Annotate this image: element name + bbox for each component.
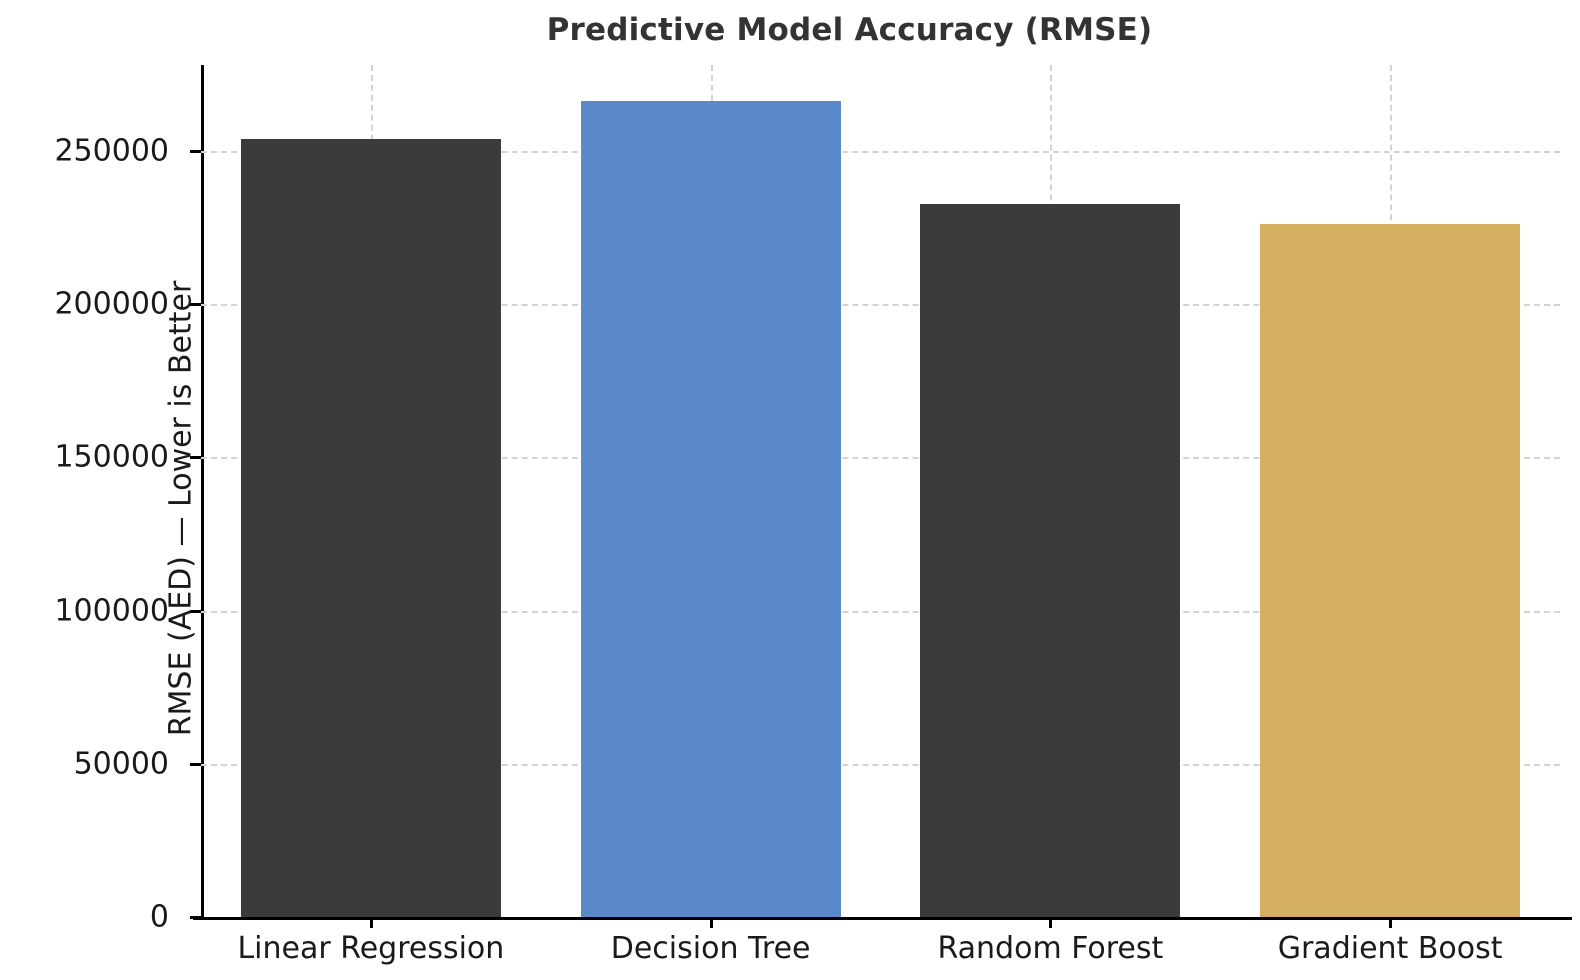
y-tick-label: 200000	[54, 287, 169, 322]
x-tick-label-decision-tree: Decision Tree	[611, 931, 811, 966]
x-tick-mark	[1389, 917, 1392, 928]
y-tick-label: 150000	[54, 440, 169, 475]
chart-figure: Predictive Model Accuracy (RMSE) 0500001…	[0, 0, 1580, 980]
chart-title: Predictive Model Accuracy (RMSE)	[201, 12, 1498, 48]
x-tick-mark	[370, 917, 373, 928]
x-tick-label-random-forest: Random Forest	[937, 931, 1163, 966]
x-tick-mark	[710, 917, 713, 928]
x-tick-label-gradient-boost: Gradient Boost	[1278, 931, 1503, 966]
x-tick-label-linear-regression: Linear Regression	[237, 931, 504, 966]
x-axis-spine	[193, 917, 1572, 920]
y-tick-label: 250000	[54, 133, 169, 168]
bar-linear-regression[interactable]	[241, 139, 501, 917]
y-tick-label: 50000	[74, 746, 169, 781]
bar-decision-tree[interactable]	[581, 101, 841, 917]
bar-random-forest[interactable]	[920, 204, 1180, 917]
plot-area: 050000100000150000200000250000 Linear Re…	[201, 65, 1560, 917]
y-axis-spine	[201, 65, 204, 918]
x-tick-mark	[1049, 917, 1052, 928]
bar-gradient-boost[interactable]	[1260, 224, 1520, 917]
y-tick-label: 100000	[54, 593, 169, 628]
y-axis-label: RMSE (AED) — Lower is Better	[164, 59, 199, 959]
